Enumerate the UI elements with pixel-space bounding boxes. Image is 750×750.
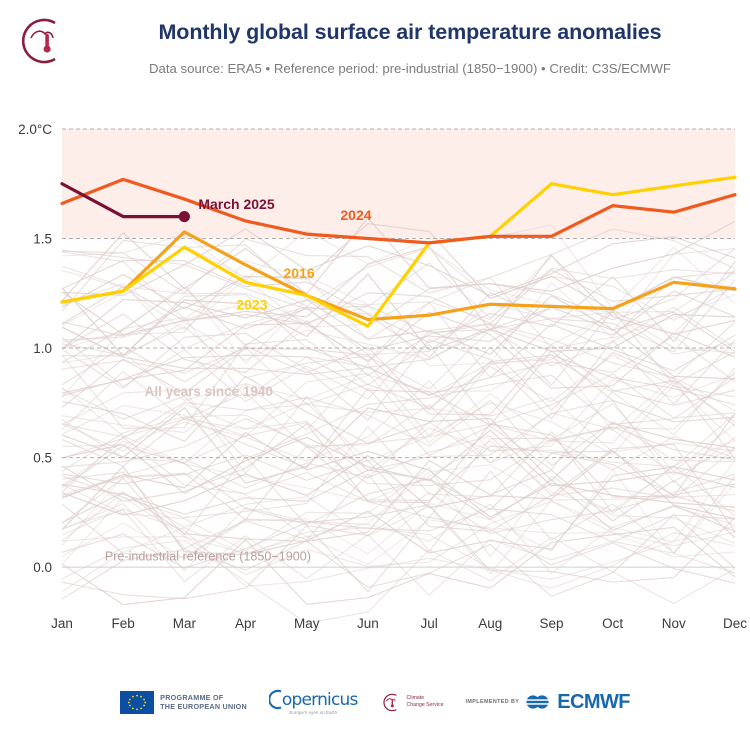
chart-subtitle: Data source: ERA5 • Reference period: pr… (90, 61, 730, 76)
c3s-line2: Change Service (407, 702, 444, 709)
x-tick-apr: Apr (235, 616, 257, 631)
y-tick-2.0°C: 2.0°C (18, 122, 52, 137)
implemented-by-label: IMPLEMENTED BY (465, 699, 519, 705)
y-tick-1.0: 1.0 (33, 341, 52, 356)
x-tick-dec: Dec (723, 616, 747, 631)
chart-plot-area: 0.00.51.01.52.0°C JanFebMarAprMayJunJulA… (0, 100, 750, 660)
warm-band (62, 129, 735, 239)
ecmwf-logo: IMPLEMENTED BY ECMWF (465, 691, 629, 714)
ecmwf-mark-icon (525, 693, 551, 711)
c3s-thermometer-icon (380, 692, 401, 713)
c3s-logo-icon (14, 14, 68, 68)
series-label-2024: 2024 (340, 207, 371, 223)
eu-logo-line2: THE EUROPEAN UNION (160, 702, 247, 711)
x-tick-may: May (294, 616, 320, 631)
x-axis-ticks: JanFebMarAprMayJunJulAugSepOctNovDec (51, 616, 747, 631)
x-tick-jul: Jul (420, 616, 437, 631)
x-tick-feb: Feb (112, 616, 135, 631)
c3s-logo: Climate Change Service (380, 692, 444, 713)
eu-logo-text: PROGRAMME OF THE EUROPEAN UNION (160, 693, 247, 711)
x-tick-sep: Sep (539, 616, 563, 631)
series-label-march-2025: March 2025 (198, 196, 274, 212)
y-tick-0.0: 0.0 (33, 560, 52, 575)
eu-flag-icon (120, 691, 154, 714)
x-tick-nov: Nov (662, 616, 686, 631)
line-chart-svg: 0.00.51.01.52.0°C JanFebMarAprMayJunJulA… (0, 100, 750, 660)
c3s-logo-text: Climate Change Service (407, 695, 444, 709)
eu-logo-line1: PROGRAMME OF (160, 693, 247, 702)
series-label-2023: 2023 (236, 297, 267, 313)
y-tick-1.5: 1.5 (33, 231, 52, 246)
y-tick-0.5: 0.5 (33, 450, 52, 465)
footer-logos: PROGRAMME OF THE EUROPEAN UNION opernicu… (0, 672, 750, 732)
x-tick-jan: Jan (51, 616, 73, 631)
x-tick-mar: Mar (173, 616, 197, 631)
y-axis-ticks: 0.00.51.01.52.0°C (18, 122, 52, 575)
annotation-0: All years since 1940 (145, 384, 273, 399)
page-title: Monthly global surface air temperature a… (90, 20, 730, 45)
copernicus-logo: opernicus Europe's eyes on Earth (269, 689, 358, 715)
series-endpoint-marker (179, 211, 190, 222)
eu-logo: PROGRAMME OF THE EUROPEAN UNION (120, 691, 247, 714)
copernicus-tagline: Europe's eyes on Earth (289, 710, 337, 715)
x-tick-aug: Aug (478, 616, 502, 631)
x-tick-oct: Oct (602, 616, 623, 631)
ecmwf-wordmark: ECMWF (557, 691, 630, 714)
chart-header: Monthly global surface air temperature a… (0, 0, 750, 100)
x-tick-jun: Jun (357, 616, 379, 631)
annotation-1: Pre-industrial reference (1850−1900) (105, 550, 311, 564)
series-label-2016: 2016 (283, 265, 314, 281)
copernicus-c-icon (269, 689, 282, 710)
c3s-line1: Climate (407, 695, 444, 702)
copernicus-wordmark: opernicus (282, 690, 358, 710)
